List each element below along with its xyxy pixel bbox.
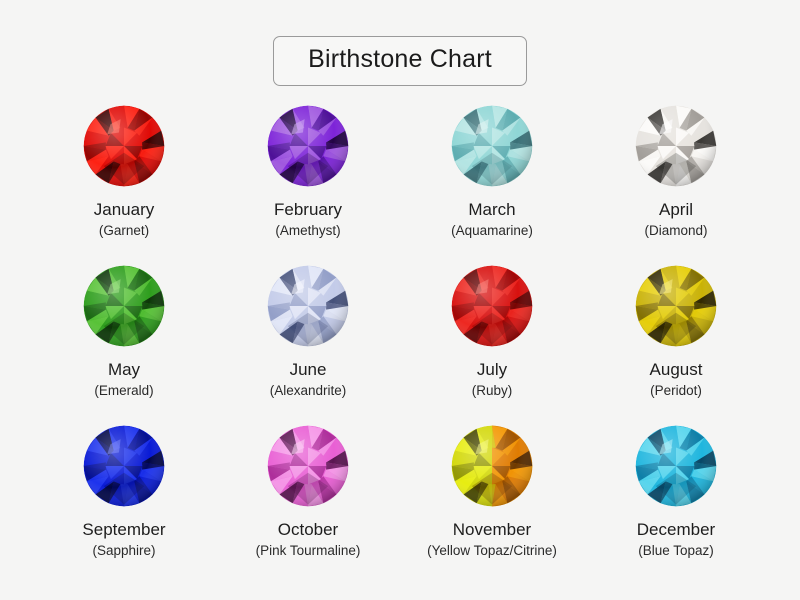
stone-label: (Pink Tourmaline) <box>256 543 361 559</box>
birthstone-cell[interactable]: October(Pink Tourmaline) <box>216 424 400 584</box>
birthstone-cell[interactable]: March(Aquamarine) <box>400 104 584 264</box>
month-label: December <box>637 520 715 540</box>
stone-label: (Garnet) <box>99 223 149 239</box>
month-label: February <box>274 200 342 220</box>
month-label: March <box>468 200 515 220</box>
stone-label: (Sapphire) <box>92 543 155 559</box>
round-brilliant-gem-icon <box>82 104 166 188</box>
birthstone-cell[interactable]: February(Amethyst) <box>216 104 400 264</box>
stone-label: (Diamond) <box>644 223 707 239</box>
stone-label: (Aquamarine) <box>451 223 533 239</box>
page-title: Birthstone Chart <box>308 46 492 74</box>
title-container: Birthstone Chart <box>0 36 800 86</box>
birthstone-cell[interactable]: May(Emerald) <box>32 264 216 424</box>
round-brilliant-gem-icon <box>266 424 350 508</box>
month-label: July <box>477 360 507 380</box>
stone-label: (Peridot) <box>650 383 702 399</box>
birthstone-cell[interactable]: August(Peridot) <box>584 264 768 424</box>
birthstone-cell[interactable]: September(Sapphire) <box>32 424 216 584</box>
month-label: January <box>94 200 154 220</box>
round-brilliant-gem-icon <box>634 264 718 348</box>
round-brilliant-gem-icon <box>82 264 166 348</box>
birthstone-cell[interactable]: July(Ruby) <box>400 264 584 424</box>
round-brilliant-gem-icon <box>450 104 534 188</box>
month-label: August <box>650 360 703 380</box>
round-brilliant-gem-icon <box>634 424 718 508</box>
round-brilliant-gem-icon <box>266 264 350 348</box>
month-label: September <box>82 520 165 540</box>
stone-label: (Amethyst) <box>275 223 340 239</box>
birthstone-cell[interactable]: April(Diamond) <box>584 104 768 264</box>
round-brilliant-gem-icon <box>634 104 718 188</box>
birthstone-chart-page: Birthstone Chart January(Garnet)February… <box>0 0 800 600</box>
month-label: November <box>453 520 531 540</box>
birthstone-cell[interactable]: December(Blue Topaz) <box>584 424 768 584</box>
round-brilliant-gem-icon <box>450 264 534 348</box>
month-label: April <box>659 200 693 220</box>
round-brilliant-gem-icon <box>82 424 166 508</box>
stone-label: (Alexandrite) <box>270 383 347 399</box>
stone-label: (Yellow Topaz/Citrine) <box>427 543 557 559</box>
round-brilliant-gem-icon <box>266 104 350 188</box>
month-label: June <box>290 360 327 380</box>
stone-label: (Emerald) <box>94 383 153 399</box>
month-label: October <box>278 520 338 540</box>
stone-label: (Blue Topaz) <box>638 543 714 559</box>
birthstone-grid: January(Garnet)February(Amethyst)March(A… <box>32 104 768 584</box>
birthstone-cell[interactable]: November(Yellow Topaz/Citrine) <box>400 424 584 584</box>
title-box: Birthstone Chart <box>273 36 527 86</box>
birthstone-cell[interactable]: January(Garnet) <box>32 104 216 264</box>
round-brilliant-gem-split-icon <box>450 424 534 508</box>
birthstone-cell[interactable]: June(Alexandrite) <box>216 264 400 424</box>
month-label: May <box>108 360 140 380</box>
stone-label: (Ruby) <box>472 383 513 399</box>
